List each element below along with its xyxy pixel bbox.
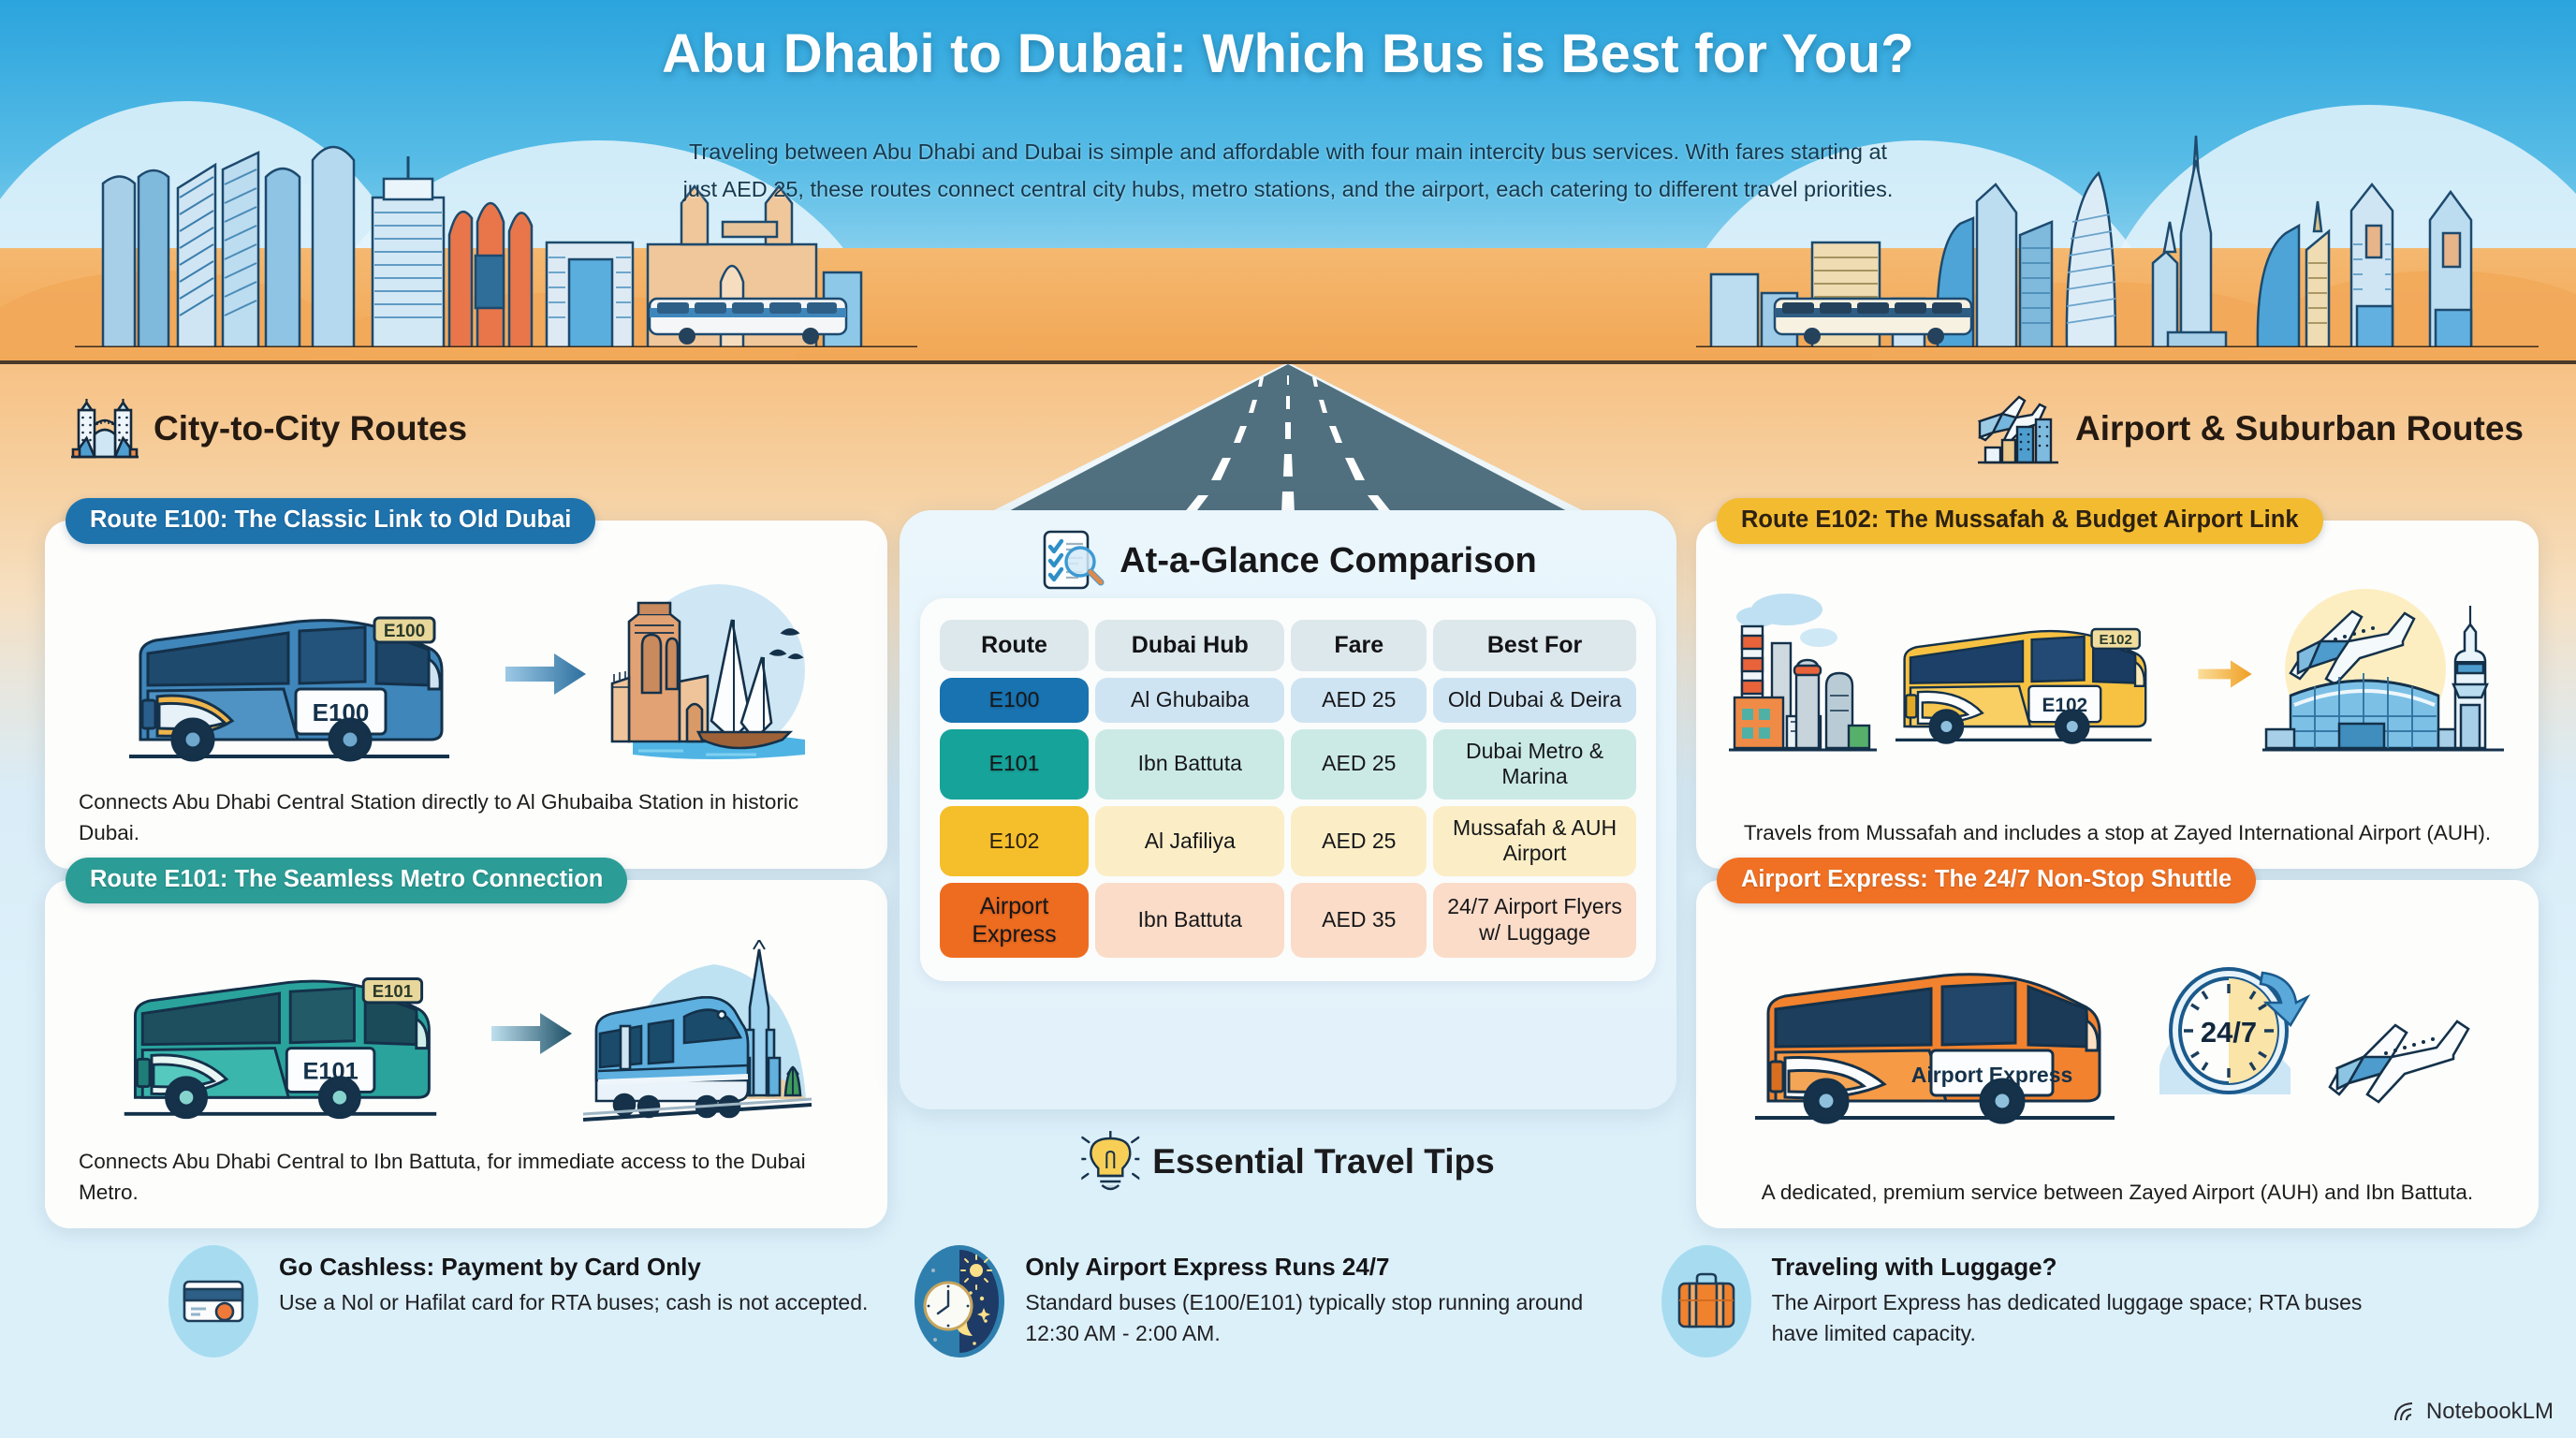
- cell-route: E102: [940, 806, 1089, 876]
- table-row: E101Ibn BattutaAED 25Dubai Metro & Marin…: [940, 729, 1636, 800]
- hero-subtitle: Traveling between Abu Dhabi and Dubai is…: [680, 133, 1896, 209]
- tip-item-24-7: Only Airport Express Runs 24/7 Standard …: [915, 1245, 1661, 1414]
- tip-title: Go Cashless: Payment by Card Only: [279, 1253, 868, 1282]
- credit-card-icon: [182, 1278, 245, 1325]
- svg-text:E102: E102: [2099, 632, 2131, 648]
- tip-text-luggage: Traveling with Luggage? The Airport Expr…: [1772, 1245, 2370, 1348]
- comparison-table: Route Dubai Hub Fare Best For E100Al Ghu…: [933, 613, 1643, 964]
- clock-day-night-icon: [920, 1250, 999, 1353]
- col-header-dubai-hub: Dubai Hub: [1095, 620, 1284, 671]
- airplane-city-icon: [1974, 393, 2060, 464]
- table-row: E100Al GhubaibaAED 25Old Dubai & Deira: [940, 678, 1636, 723]
- section-title-right: Airport & Suburban Routes: [2075, 409, 2524, 448]
- tip-body: The Airport Express has dedicated luggag…: [1772, 1287, 2370, 1348]
- clock-24-7-icon: 24/7: [2150, 945, 2319, 1123]
- mini-bus-icon: [646, 289, 852, 345]
- comparison-table-card: Route Dubai Hub Fare Best For E100Al Ghu…: [920, 598, 1656, 981]
- table-row: Airport ExpressIbn BattutaAED 3524/7 Air…: [940, 883, 1636, 958]
- clock-day-night-icon-wrap: [915, 1245, 1004, 1357]
- svg-text:E100: E100: [384, 622, 425, 641]
- col-header-route: Route: [940, 620, 1089, 671]
- comparison-panel: At-a-Glance Comparison Route Dubai Hub F…: [900, 510, 1676, 1109]
- route-art-e101: E101 E101: [45, 934, 887, 1133]
- tip-title: Traveling with Luggage?: [1772, 1253, 2370, 1282]
- cell-route: E101: [940, 729, 1089, 800]
- suitcase-icon: [1676, 1272, 1736, 1330]
- bus-e100-icon: E100 E100: [120, 580, 494, 768]
- cell-fare: AED 25: [1291, 806, 1427, 876]
- tip-title: Only Airport Express Runs 24/7: [1025, 1253, 1623, 1282]
- clock-24-7-label: 24/7: [2201, 1016, 2257, 1049]
- tip-text-cashless: Go Cashless: Payment by Card Only Use a …: [279, 1245, 868, 1318]
- tips-header: Essential Travel Tips: [1081, 1131, 1494, 1193]
- table-header-row: Route Dubai Hub Fare Best For: [940, 620, 1636, 671]
- route-description-airport-express: A dedicated, premium service between Zay…: [1719, 1178, 2516, 1208]
- airport-terminal-plane-icon: [2262, 583, 2506, 766]
- notebooklm-watermark: NotebookLM: [2393, 1399, 2554, 1425]
- tip-text-24-7: Only Airport Express Runs 24/7 Standard …: [1025, 1245, 1623, 1348]
- route-card-e100[interactable]: Route E100: The Classic Link to Old Duba…: [45, 521, 887, 869]
- route-card-e101[interactable]: Route E101: The Seamless Metro Connectio…: [45, 880, 887, 1228]
- metro-train-burj-icon: [583, 940, 817, 1127]
- cell-dubai-hub: Ibn Battuta: [1095, 729, 1284, 800]
- notebooklm-icon: [2393, 1401, 2418, 1423]
- cell-best-for: 24/7 Airport Flyers w/ Luggage: [1433, 883, 1636, 958]
- bridge-towers-icon: [71, 393, 139, 464]
- tip-body: Standard buses (E100/E101) typically sto…: [1025, 1287, 1623, 1348]
- cell-best-for: Mussafah & AUH Airport: [1433, 806, 1636, 876]
- route-description-e102: Travels from Mussafah and includes a sto…: [1719, 818, 2516, 848]
- route-badge-e101: Route E101: The Seamless Metro Connectio…: [66, 858, 627, 903]
- bus-e101-icon: E101 E101: [115, 940, 480, 1127]
- route-description-e101: Connects Abu Dhabi Central to Ibn Battut…: [79, 1147, 859, 1208]
- cell-best-for: Old Dubai & Deira: [1433, 678, 1636, 723]
- cell-fare: AED 25: [1291, 729, 1427, 800]
- route-art-airport-express: Airport Express 24/7: [1696, 934, 2539, 1133]
- watermark-label: NotebookLM: [2426, 1399, 2554, 1425]
- route-art-e102: E102 E102: [1696, 575, 2539, 773]
- arrow-right-icon: [2197, 646, 2253, 702]
- tip-item-luggage: Traveling with Luggage? The Airport Expr…: [1661, 1245, 2408, 1414]
- tips-row: Go Cashless: Payment by Card Only Use a …: [0, 1245, 2576, 1414]
- tip-body: Use a Nol or Hafilat card for RTA buses;…: [279, 1287, 868, 1318]
- route-card-airport-express[interactable]: Airport Express: The 24/7 Non-Stop Shutt…: [1696, 880, 2539, 1228]
- bus-airport-express-icon: Airport Express: [1748, 940, 2141, 1127]
- route-badge-e102: Route E102: The Mussafah & Budget Airpor…: [1717, 498, 2323, 544]
- factory-icon: [1729, 585, 1879, 763]
- section-header-city-to-city: City-to-City Routes: [71, 393, 467, 464]
- road-markings: [820, 364, 1756, 514]
- wind-tower-dhow-icon: [597, 580, 812, 768]
- cell-route: E100: [940, 678, 1089, 723]
- col-header-fare: Fare: [1291, 620, 1427, 671]
- svg-text:E101: E101: [373, 981, 413, 1001]
- cell-dubai-hub: Al Ghubaiba: [1095, 678, 1284, 723]
- route-card-e102[interactable]: Route E102: The Mussafah & Budget Airpor…: [1696, 521, 2539, 869]
- suitcase-icon-wrap: [1661, 1245, 1751, 1357]
- checklist-magnifier-icon: [1039, 528, 1108, 594]
- highway-illustration: [820, 364, 1756, 514]
- lightbulb-icon: [1081, 1131, 1139, 1193]
- bus-e102-icon: E102 E102: [1888, 585, 2188, 763]
- route-badge-airport-express: Airport Express: The 24/7 Non-Stop Shutt…: [1717, 858, 2256, 903]
- airplane-icon: [2328, 963, 2487, 1104]
- page-title: Abu Dhabi to Dubai: Which Bus is Best fo…: [0, 22, 2576, 85]
- cell-dubai-hub: Al Jafiliya: [1095, 806, 1284, 876]
- cell-best-for: Dubai Metro & Marina: [1433, 729, 1636, 800]
- cell-fare: AED 25: [1291, 678, 1427, 723]
- route-badge-e100: Route E100: The Classic Link to Old Duba…: [66, 498, 595, 544]
- section-title-left: City-to-City Routes: [154, 409, 467, 448]
- hero-banner: Abu Dhabi to Dubai: Which Bus is Best fo…: [0, 0, 2576, 360]
- tip-item-cashless: Go Cashless: Payment by Card Only Use a …: [168, 1245, 915, 1414]
- mini-bus-icon: [1771, 289, 1977, 345]
- credit-card-icon-wrap: [168, 1245, 258, 1357]
- section-header-airport-suburban: Airport & Suburban Routes: [1974, 393, 2524, 464]
- comparison-title: At-a-Glance Comparison: [1120, 541, 1537, 581]
- arrow-right-icon: [504, 646, 588, 702]
- tips-title: Essential Travel Tips: [1152, 1142, 1494, 1181]
- route-art-e100: E100 E100: [45, 575, 887, 773]
- table-row: E102Al JafiliyaAED 25Mussafah & AUH Airp…: [940, 806, 1636, 876]
- cell-dubai-hub: Ibn Battuta: [1095, 883, 1284, 958]
- col-header-best-for: Best For: [1433, 620, 1636, 671]
- arrow-right-icon: [490, 1005, 574, 1062]
- route-description-e100: Connects Abu Dhabi Central Station direc…: [79, 787, 859, 848]
- cell-route: Airport Express: [940, 883, 1089, 958]
- comparison-header: At-a-Glance Comparison: [920, 523, 1656, 598]
- cell-fare: AED 35: [1291, 883, 1427, 958]
